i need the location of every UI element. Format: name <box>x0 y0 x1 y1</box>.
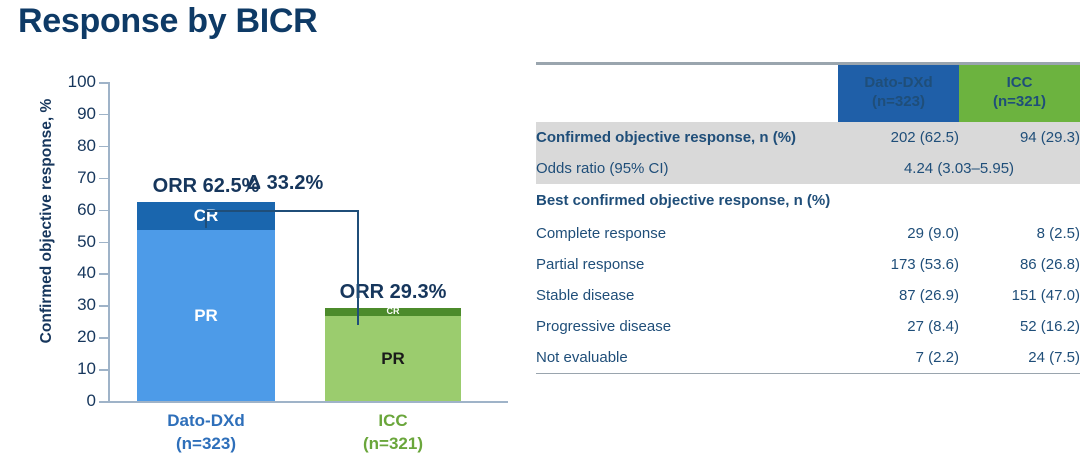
table-row: Stable disease87 (26.9)151 (47.0) <box>536 280 1080 311</box>
table-header-row: Dato-DXd (n=323) ICC (n=321) <box>536 65 1080 122</box>
y-tick-mark <box>99 178 108 180</box>
table-header: Dato-DXd (n=323) ICC (n=321) <box>536 65 1080 122</box>
table-header-icc-label: ICC <box>959 74 1080 93</box>
y-tick-label: 50 <box>34 232 96 252</box>
table-section-header-row: Best confirmed objective response, n (%) <box>536 184 1080 218</box>
table-header-dato-sublabel: (n=323) <box>838 93 959 112</box>
y-tick-label: 10 <box>34 359 96 379</box>
table-cell-label: Confirmed objective response, n (%) <box>536 122 838 153</box>
table-cell-icc: 86 (26.8) <box>959 249 1080 280</box>
table-cell-label: Progressive disease <box>536 311 838 342</box>
delta-bracket-left-leg <box>205 210 207 228</box>
y-tick-label: 20 <box>34 327 96 347</box>
table-cell-dato: 173 (53.6) <box>838 249 959 280</box>
y-tick-label: 70 <box>34 168 96 188</box>
table-cell-dato: 202 (62.5) <box>838 122 959 153</box>
table-row: Not evaluable7 (2.2)24 (7.5) <box>536 342 1080 373</box>
table-cell-span-value: 4.24 (3.03–5.95) <box>838 153 1080 184</box>
y-tick-mark <box>99 305 108 307</box>
y-tick-mark <box>99 114 108 116</box>
bar-dato-dxd: CRPR <box>137 202 275 401</box>
table-cell-icc: 52 (16.2) <box>959 311 1080 342</box>
x-axis-label-count: (n=323) <box>106 433 306 456</box>
y-tick-label: 100 <box>34 72 96 92</box>
table-header-icc: ICC (n=321) <box>959 65 1080 122</box>
table-row: Progressive disease27 (8.4)52 (16.2) <box>536 311 1080 342</box>
x-axis-label-dato-dxd: Dato-DXd(n=323) <box>106 410 306 456</box>
y-tick-label: 40 <box>34 263 96 283</box>
delta-bracket-right-leg <box>357 210 359 325</box>
table-cell-label: Not evaluable <box>536 342 838 373</box>
table-cell-label: Odds ratio (95% CI) <box>536 153 838 184</box>
page-title: Response by BICR <box>18 2 317 41</box>
table-row: Confirmed objective response, n (%)202 (… <box>536 122 1080 153</box>
x-axis-label-count: (n=321) <box>293 433 493 456</box>
table-cell-label: Complete response <box>536 218 838 249</box>
y-tick-mark <box>99 242 108 244</box>
y-tick-mark <box>99 146 108 148</box>
table-cell-dato: 87 (26.9) <box>838 280 959 311</box>
table-cell-dato: 27 (8.4) <box>838 311 959 342</box>
y-tick-label: 30 <box>34 295 96 315</box>
orr-label-icc: ORR 29.3% <box>303 281 483 304</box>
y-tick-label: 90 <box>34 104 96 124</box>
y-tick-mark <box>99 369 108 371</box>
table-section-header: Best confirmed objective response, n (%) <box>536 184 1080 218</box>
table-cell-icc: 151 (47.0) <box>959 280 1080 311</box>
x-axis-label-name: Dato-DXd <box>106 410 306 433</box>
table-row: Complete response29 (9.0)8 (2.5) <box>536 218 1080 249</box>
table-cell-icc: 8 (2.5) <box>959 218 1080 249</box>
table-cell-dato: 7 (2.2) <box>838 342 959 373</box>
delta-bracket-top <box>205 210 359 212</box>
x-axis-line <box>108 401 508 403</box>
y-tick-mark <box>99 273 108 275</box>
table-header-dato-dxd: Dato-DXd (n=323) <box>838 65 959 122</box>
delta-annotation: Δ 33.2% <box>205 172 365 195</box>
y-tick-label: 80 <box>34 136 96 156</box>
table-row: Partial response173 (53.6)86 (26.8) <box>536 249 1080 280</box>
y-tick-label: 60 <box>34 200 96 220</box>
slide-root: Response by BICR Confirmed objective res… <box>0 0 1080 468</box>
y-axis-line <box>108 82 110 402</box>
table-body: Confirmed objective response, n (%)202 (… <box>536 122 1080 373</box>
table-cell-label: Stable disease <box>536 280 838 311</box>
x-axis-label-name: ICC <box>293 410 493 433</box>
table-row: Odds ratio (95% CI)4.24 (3.03–5.95) <box>536 153 1080 184</box>
table-header-dato-label: Dato-DXd <box>838 74 959 93</box>
table-cell-dato: 29 (9.0) <box>838 218 959 249</box>
y-tick-mark <box>99 210 108 212</box>
table-cell-icc: 94 (29.3) <box>959 122 1080 153</box>
bar-icc: CRPR <box>325 308 461 401</box>
y-tick-label: 0 <box>34 391 96 411</box>
table-cell-label: Partial response <box>536 249 838 280</box>
table-header-blank <box>536 65 838 122</box>
table-cell-icc: 24 (7.5) <box>959 342 1080 373</box>
y-tick-mark <box>99 82 108 84</box>
table-bottom-rule <box>536 373 1080 375</box>
y-tick-mark <box>99 401 108 403</box>
x-axis-label-icc: ICC(n=321) <box>293 410 493 456</box>
table-header-icc-sublabel: (n=321) <box>959 93 1080 112</box>
bar-segment-pr: PR <box>325 316 461 401</box>
response-summary-table: Dato-DXd (n=323) ICC (n=321) Confirmed o… <box>536 62 1080 374</box>
y-tick-mark <box>99 337 108 339</box>
bar-segment-pr: PR <box>137 230 275 401</box>
response-bar-chart: Confirmed objective response, % 10090807… <box>0 60 520 468</box>
bar-segment-cr: CR <box>325 308 461 316</box>
